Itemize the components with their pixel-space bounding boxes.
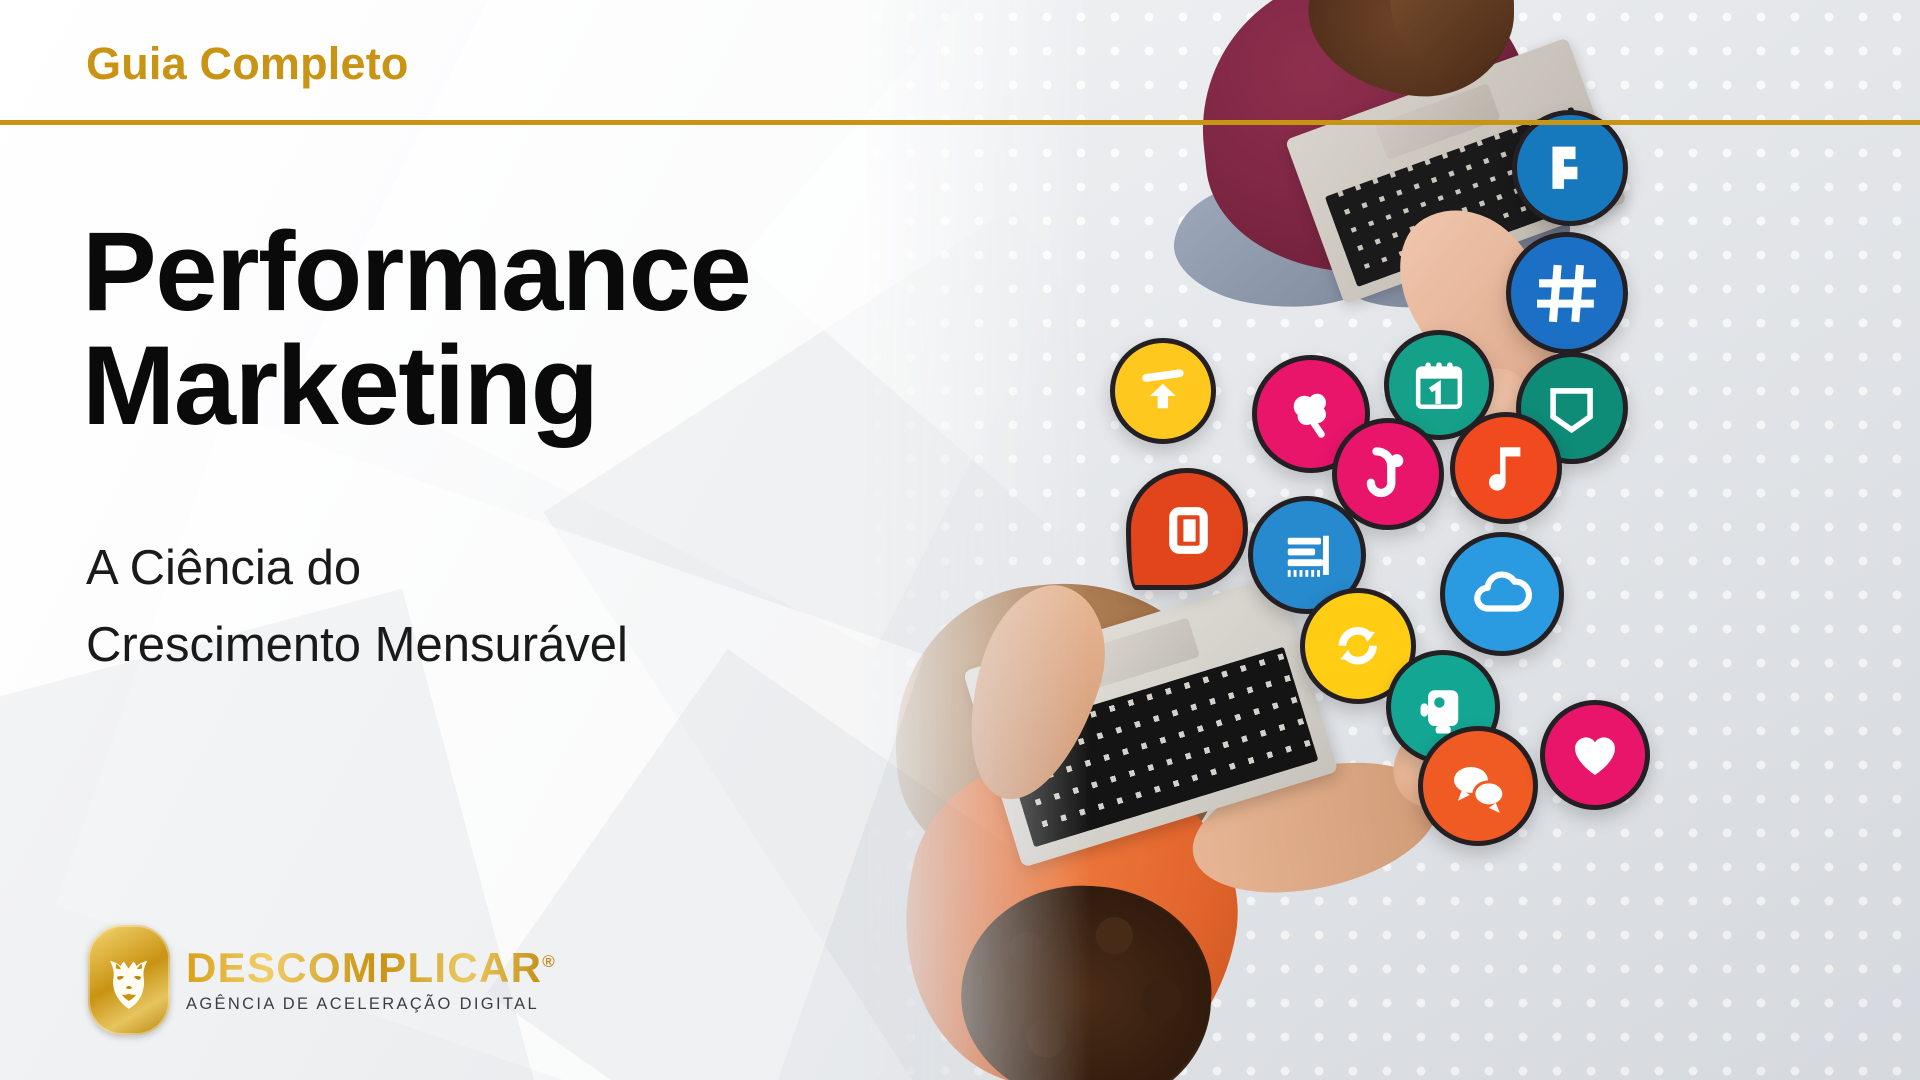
page-title-line-1: Performance [82, 215, 912, 329]
hero-photograph [860, 0, 1920, 1080]
badge-chat [1126, 468, 1248, 590]
badge-cloud [1440, 532, 1564, 656]
gold-divider-rule [0, 120, 1920, 125]
brand-logo: DESCOMPLICAR® AGÊNCIA DE ACELERAÇÃO DIGI… [88, 925, 555, 1035]
badge-share [1512, 110, 1628, 226]
badge-upload [1110, 338, 1216, 444]
page-subtitle: A Ciência do Crescimento Mensurável [86, 530, 866, 685]
upload-arrow-icon [1115, 343, 1211, 439]
logo-tagline: AGÊNCIA DE ACELERAÇÃO DIGITAL [186, 995, 555, 1014]
hashtag-icon [1511, 237, 1623, 349]
comments-icon [1423, 731, 1533, 841]
logo-name: DESCOMPLICAR® [186, 947, 555, 989]
share-nodes-icon [1517, 115, 1623, 221]
slide-canvas: Guia Completo Performance Marketing A Ci… [0, 0, 1920, 1080]
page-subtitle-line-2: Crescimento Mensurável [86, 607, 866, 684]
badge-music [1450, 412, 1562, 524]
logo-name-text: DESCOMPLICAR [186, 944, 542, 991]
page-title: Performance Marketing [82, 215, 912, 443]
logo-wordmark: DESCOMPLICAR® AGÊNCIA DE ACELERAÇÃO DIGI… [186, 947, 555, 1014]
registered-mark-icon: ® [542, 952, 555, 971]
heart-icon [1545, 705, 1645, 805]
page-title-line-2: Marketing [82, 329, 912, 443]
badge-comments [1418, 726, 1538, 846]
wolf-head-icon [88, 925, 170, 1035]
badge-hashtag [1506, 232, 1628, 354]
music-note-icon [1455, 417, 1557, 519]
badge-heart [1540, 700, 1650, 810]
eyebrow-label: Guia Completo [86, 38, 409, 90]
cloud-icon [1445, 537, 1559, 651]
page-subtitle-line-1: A Ciência do [86, 530, 866, 607]
chat-bubble-icon [1131, 473, 1243, 585]
